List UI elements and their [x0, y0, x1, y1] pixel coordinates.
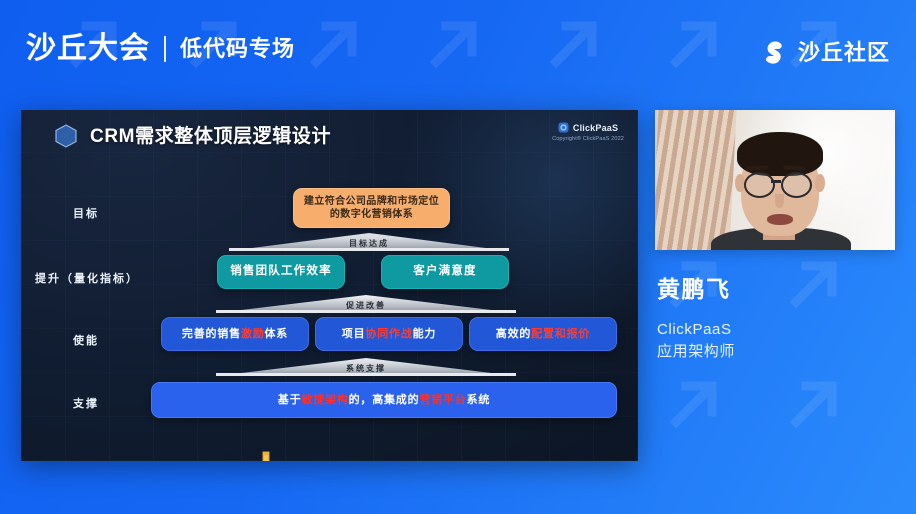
event-name: 沙丘大会	[26, 34, 150, 64]
community-logo: 沙丘社区	[759, 38, 890, 68]
connector-label: 促进改善	[216, 300, 516, 311]
enable-box-3-label: 高效的配置和报价	[496, 327, 590, 342]
enable-box-2-label: 项目协同作战能力	[342, 327, 436, 342]
goal-box[interactable]: 建立符合公司品牌和市场定位 的数字化营销体系	[293, 188, 450, 228]
community-logo-text: 沙丘社区	[798, 42, 890, 64]
speaker-mouth	[767, 214, 793, 225]
speaker-name: 黄鹏飞	[657, 278, 735, 301]
enable-box-1-label: 完善的销售激励体系	[182, 327, 288, 342]
support-box-label: 基于敏捷架构的，高集成的营销平台系统	[278, 393, 490, 408]
row-label-goal: 目标	[21, 205, 151, 221]
support-box[interactable]: 基于敏捷架构的，高集成的营销平台系统	[151, 382, 617, 418]
presentation-stage: 沙丘大会 低代码专场 沙丘社区 CRM需求整体顶层逻辑设计	[0, 0, 916, 514]
speaker-nose	[775, 194, 784, 208]
event-header: 沙丘大会 低代码专场 沙丘社区	[0, 0, 916, 104]
speaker-video-feed[interactable]	[655, 110, 895, 250]
slide-title-text: CRM需求整体顶层逻辑设计	[90, 127, 331, 146]
speaker-info: 黄鹏飞 ClickPaaS 应用架构师	[657, 278, 735, 363]
speaker-role: 应用架构师	[657, 341, 735, 363]
enable-box-3[interactable]: 高效的配置和报价	[469, 317, 617, 351]
slide-title: CRM需求整体顶层逻辑设计	[53, 123, 331, 149]
arrow-up-right-icon	[780, 370, 844, 434]
enable-box-1[interactable]: 完善的销售激励体系	[161, 317, 309, 351]
video-blinds	[655, 110, 737, 250]
speaker-glasses-left	[744, 172, 775, 198]
speaker-ear-right	[815, 174, 825, 192]
speaker-glasses-bridge	[771, 180, 781, 183]
pencil-icon	[258, 451, 276, 461]
header-divider	[164, 36, 166, 62]
metric-box-2-label: 客户满意度	[413, 264, 477, 280]
connector-label: 系统支撑	[216, 363, 516, 374]
metric-box-2[interactable]: 客户满意度	[381, 255, 509, 289]
connector-goal-achievement: 目标达成	[229, 233, 509, 251]
goal-box-line1: 建立符合公司品牌和市场定位	[304, 195, 439, 209]
metric-box-1[interactable]: 销售团队工作效率	[217, 255, 345, 289]
clickpaas-name: ClickPaaS	[573, 123, 618, 133]
clickpaas-watermark: ClickPaaS Copyright® ClickPaaS 2022	[552, 122, 624, 142]
sandhill-s-logo-icon	[759, 38, 789, 68]
event-branding: 沙丘大会 低代码专场	[26, 34, 295, 64]
connector-improvement: 促进改善	[216, 295, 516, 313]
connector-system-support: 系统支撑	[216, 358, 516, 376]
slide-canvas[interactable]: CRM需求整体顶层逻辑设计 ClickPaaS Copyright® Click…	[21, 110, 638, 461]
arrow-up-right-icon	[660, 370, 724, 434]
connector-label: 目标达成	[229, 238, 509, 249]
goal-box-line2: 的数字化营销体系	[330, 208, 413, 222]
clickpaas-copyright: Copyright® ClickPaaS 2022	[552, 136, 624, 142]
metric-box-1-label: 销售团队工作效率	[230, 264, 332, 280]
hexagon-icon	[53, 123, 79, 149]
speaker-organization: ClickPaaS	[657, 319, 735, 341]
arrow-up-right-icon	[780, 250, 844, 314]
clickpaas-mark-icon	[558, 122, 569, 133]
row-label-metric: 提升（量化指标）	[21, 270, 157, 286]
row-label-support: 支撑	[21, 395, 151, 411]
event-track-name: 低代码专场	[180, 38, 295, 60]
speaker-glasses-right	[781, 172, 812, 198]
row-label-enable: 使能	[21, 332, 151, 348]
enable-box-2[interactable]: 项目协同作战能力	[315, 317, 463, 351]
